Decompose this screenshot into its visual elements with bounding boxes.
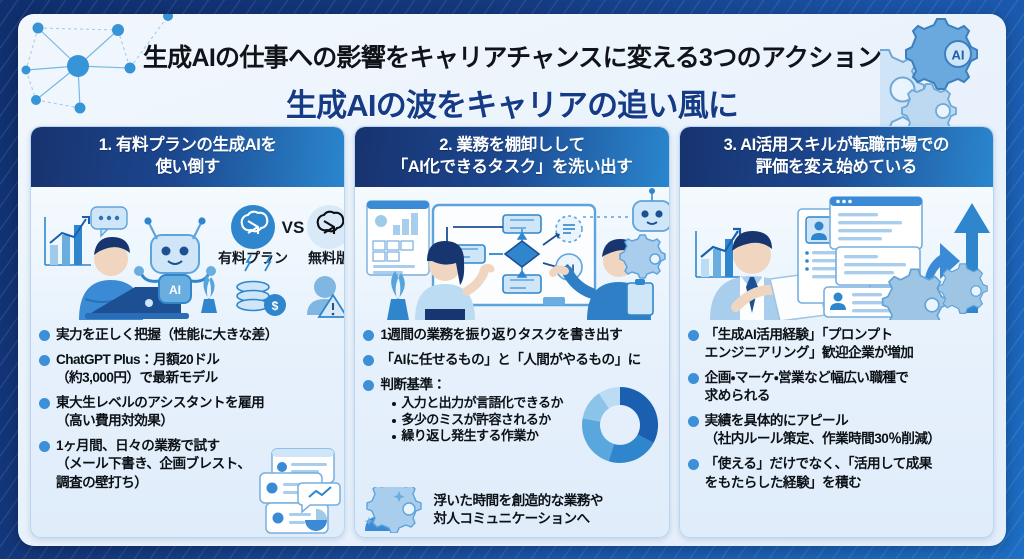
bullet-dot-icon — [39, 441, 50, 452]
bullet-dot-icon — [39, 330, 50, 341]
card-1-heading: 1. 有料プランの生成AIを 使い倒す — [31, 127, 344, 187]
card-1-heading-line-2: 使い倒す — [99, 157, 277, 178]
list-item: 1週間の業務を振り返りタスクを書き出す — [363, 326, 659, 344]
card-2-illustration: AI — [355, 187, 668, 320]
list-item: 東大生レベルのアシスタントを雇用 （高い費用対効果） — [39, 394, 335, 430]
card-3-illustration — [680, 187, 993, 320]
bullet-text: （高い費用対効果） — [56, 412, 264, 430]
bullet-dot-icon — [39, 355, 50, 366]
free-plan-badge — [307, 205, 344, 249]
content-panel: AI 生成AIの仕事への影響をキャリアチャンスに変える3つのアクション 生成AI… — [18, 14, 1006, 546]
card-3-heading: 3. AI活用スキルが転職市場での 評価を変え始めている — [680, 127, 993, 187]
bullet-dot-icon — [688, 373, 699, 384]
sub-bullet-list: 入力と出力が言語化できるか 多少のミスが許容されるか 繰り返し発生する作業か — [392, 395, 563, 445]
sub-bullet-text: 入力と出力が言語化できるか — [401, 395, 563, 412]
card-1-bullets: 実力を正しく把握（性能に大きな差） ChatGPT Plus：月額20ドル （約… — [31, 320, 344, 537]
sub-bullet-text: 多少のミスが許容されるか — [401, 412, 550, 429]
svg-text:AI: AI — [169, 283, 181, 297]
card-2-heading-line-1: 2. 業務を棚卸しして — [392, 135, 633, 156]
bullet-text: 企画・マーケ・営業など幅広い職種で — [705, 369, 909, 387]
coin-dollar-label: $ — [272, 299, 279, 313]
columns-container: 1. 有料プランの生成AIを 使い倒す — [30, 126, 994, 538]
card-2-heading-line-2: 「AI化できるタスク」を洗い出す — [392, 157, 633, 178]
bullet-text: 調査の壁打ち） — [56, 474, 250, 492]
sub-bullet-dot-icon — [392, 419, 396, 423]
bullet-text: エンジニアリング」歓迎企業が増加 — [705, 344, 914, 362]
criteria-donut-chart — [577, 382, 663, 473]
bullet-text: （メール下書き、企画ブレスト、 — [56, 455, 250, 473]
list-item: 「生成AI活用経験」「プロンプト エンジニアリング」歓迎企業が増加 — [688, 326, 984, 362]
card-action-2[interactable]: 2. 業務を棚卸しして 「AI化できるタスク」を洗い出す — [354, 126, 669, 538]
footer-note-line: 対人コミュニケーションへ — [433, 510, 603, 528]
bullet-dot-icon — [688, 459, 699, 470]
bullet-text: 「生成AI活用経験」「プロンプト — [705, 326, 914, 344]
sub-list-item: 入力と出力が言語化できるか — [392, 395, 563, 412]
card-3-heading-line-1: 3. AI活用スキルが転職市場での — [724, 135, 949, 156]
list-item: 「使える」だけでなく、「活用して成果 をもたらした経験」を積む — [688, 455, 984, 491]
bullet-text: 「AIに任せるもの」と「人間がやるもの」に — [380, 351, 640, 369]
bullet-dot-icon — [688, 416, 699, 427]
list-item: 「AIに任せるもの」と「人間がやるもの」に — [363, 351, 659, 369]
sub-bullet-dot-icon — [392, 402, 396, 406]
user-warning-icon — [307, 276, 344, 317]
bullet-text: 1週間の業務を振り返りタスクを書き出す — [380, 326, 622, 344]
sub-list-item: 繰り返し発生する作業か — [392, 428, 563, 445]
list-item: 実績を具体的にアピール （社内ルール策定、作業時間30％削減） — [688, 412, 984, 448]
list-item: 実力を正しく把握（性能に大きな差） — [39, 326, 335, 344]
person-gear-icon — [361, 487, 427, 533]
header: AI 生成AIの仕事への影響をキャリアチャンスに変える3つのアクション 生成AI… — [18, 14, 1006, 122]
bullet-text: 判断基準： — [380, 376, 563, 394]
bullet-dot-icon — [688, 330, 699, 341]
page-subtitle: 生成AIの波をキャリアの追い風に — [18, 80, 1006, 125]
sub-bullet-dot-icon — [392, 435, 396, 439]
bullet-dot-icon — [39, 398, 50, 409]
bullet-dot-icon — [363, 380, 374, 391]
card-1-heading-line-1: 1. 有料プランの生成AIを — [99, 135, 277, 156]
vs-label: VS — [282, 218, 305, 237]
paid-plan-label: 有料プラン — [218, 250, 288, 266]
bullet-text: 1ヶ月間、日々の業務で試す — [56, 437, 250, 455]
list-item: ChatGPT Plus：月額20ドル （約3,000円）で最新モデル — [39, 351, 335, 387]
card-action-3[interactable]: 3. AI活用スキルが転職市場での 評価を変え始めている — [679, 126, 994, 538]
chat-cards-icon — [246, 447, 342, 535]
bullet-text: （約3,000円）で最新モデル — [56, 369, 219, 387]
card-1-illustration: AI — [31, 187, 344, 320]
free-plan-label: 無料版 — [308, 250, 344, 266]
footer-note-line: 浮いた時間を創造的な業務や — [433, 492, 603, 510]
bullet-text: 実力を正しく把握（性能に大きな差） — [56, 326, 278, 344]
card-3-heading-line-2: 評価を変え始めている — [724, 157, 949, 178]
page-title: 生成AIの仕事への影響をキャリアチャンスに変える3つのアクション — [18, 38, 1006, 74]
bullet-dot-icon — [363, 355, 374, 366]
bullet-text: をもたらした経験」を積む — [705, 474, 932, 492]
sub-list-item: 多少のミスが許容されるか — [392, 412, 563, 429]
bullet-text: 「使える」だけでなく、「活用して成果 — [705, 455, 932, 473]
bullet-text: 求められる — [705, 387, 909, 405]
list-item: 企画・マーケ・営業など幅広い職種で 求められる — [688, 369, 984, 405]
card-2-heading: 2. 業務を棚卸しして 「AI化できるタスク」を洗い出す — [355, 127, 668, 187]
bullet-text: 東大生レベルのアシスタントを雇用 — [56, 394, 264, 412]
bullet-text: 実績を具体的にアピール — [705, 412, 941, 430]
card-2-footer-note: 浮いた時間を創造的な業務や 対人コミュニケーションへ — [361, 487, 662, 533]
bullet-dot-icon — [363, 330, 374, 341]
bullet-text: ChatGPT Plus：月額20ドル — [56, 351, 219, 369]
card-action-1[interactable]: 1. 有料プランの生成AIを 使い倒す — [30, 126, 345, 538]
paid-plan-badge — [231, 205, 275, 249]
card-3-bullets: 「生成AI活用経験」「プロンプト エンジニアリング」歓迎企業が増加 企画・マーケ… — [680, 320, 993, 537]
infographic-canvas: AI 生成AIの仕事への影響をキャリアチャンスに変える3つのアクション 生成AI… — [0, 0, 1024, 559]
bullet-text: （社内ルール策定、作業時間30％削減） — [705, 430, 941, 448]
sub-bullet-text: 繰り返し発生する作業か — [401, 428, 538, 445]
card-2-bullets: 1週間の業務を振り返りタスクを書き出す 「AIに任せるもの」と「人間がやるもの」… — [355, 320, 668, 537]
